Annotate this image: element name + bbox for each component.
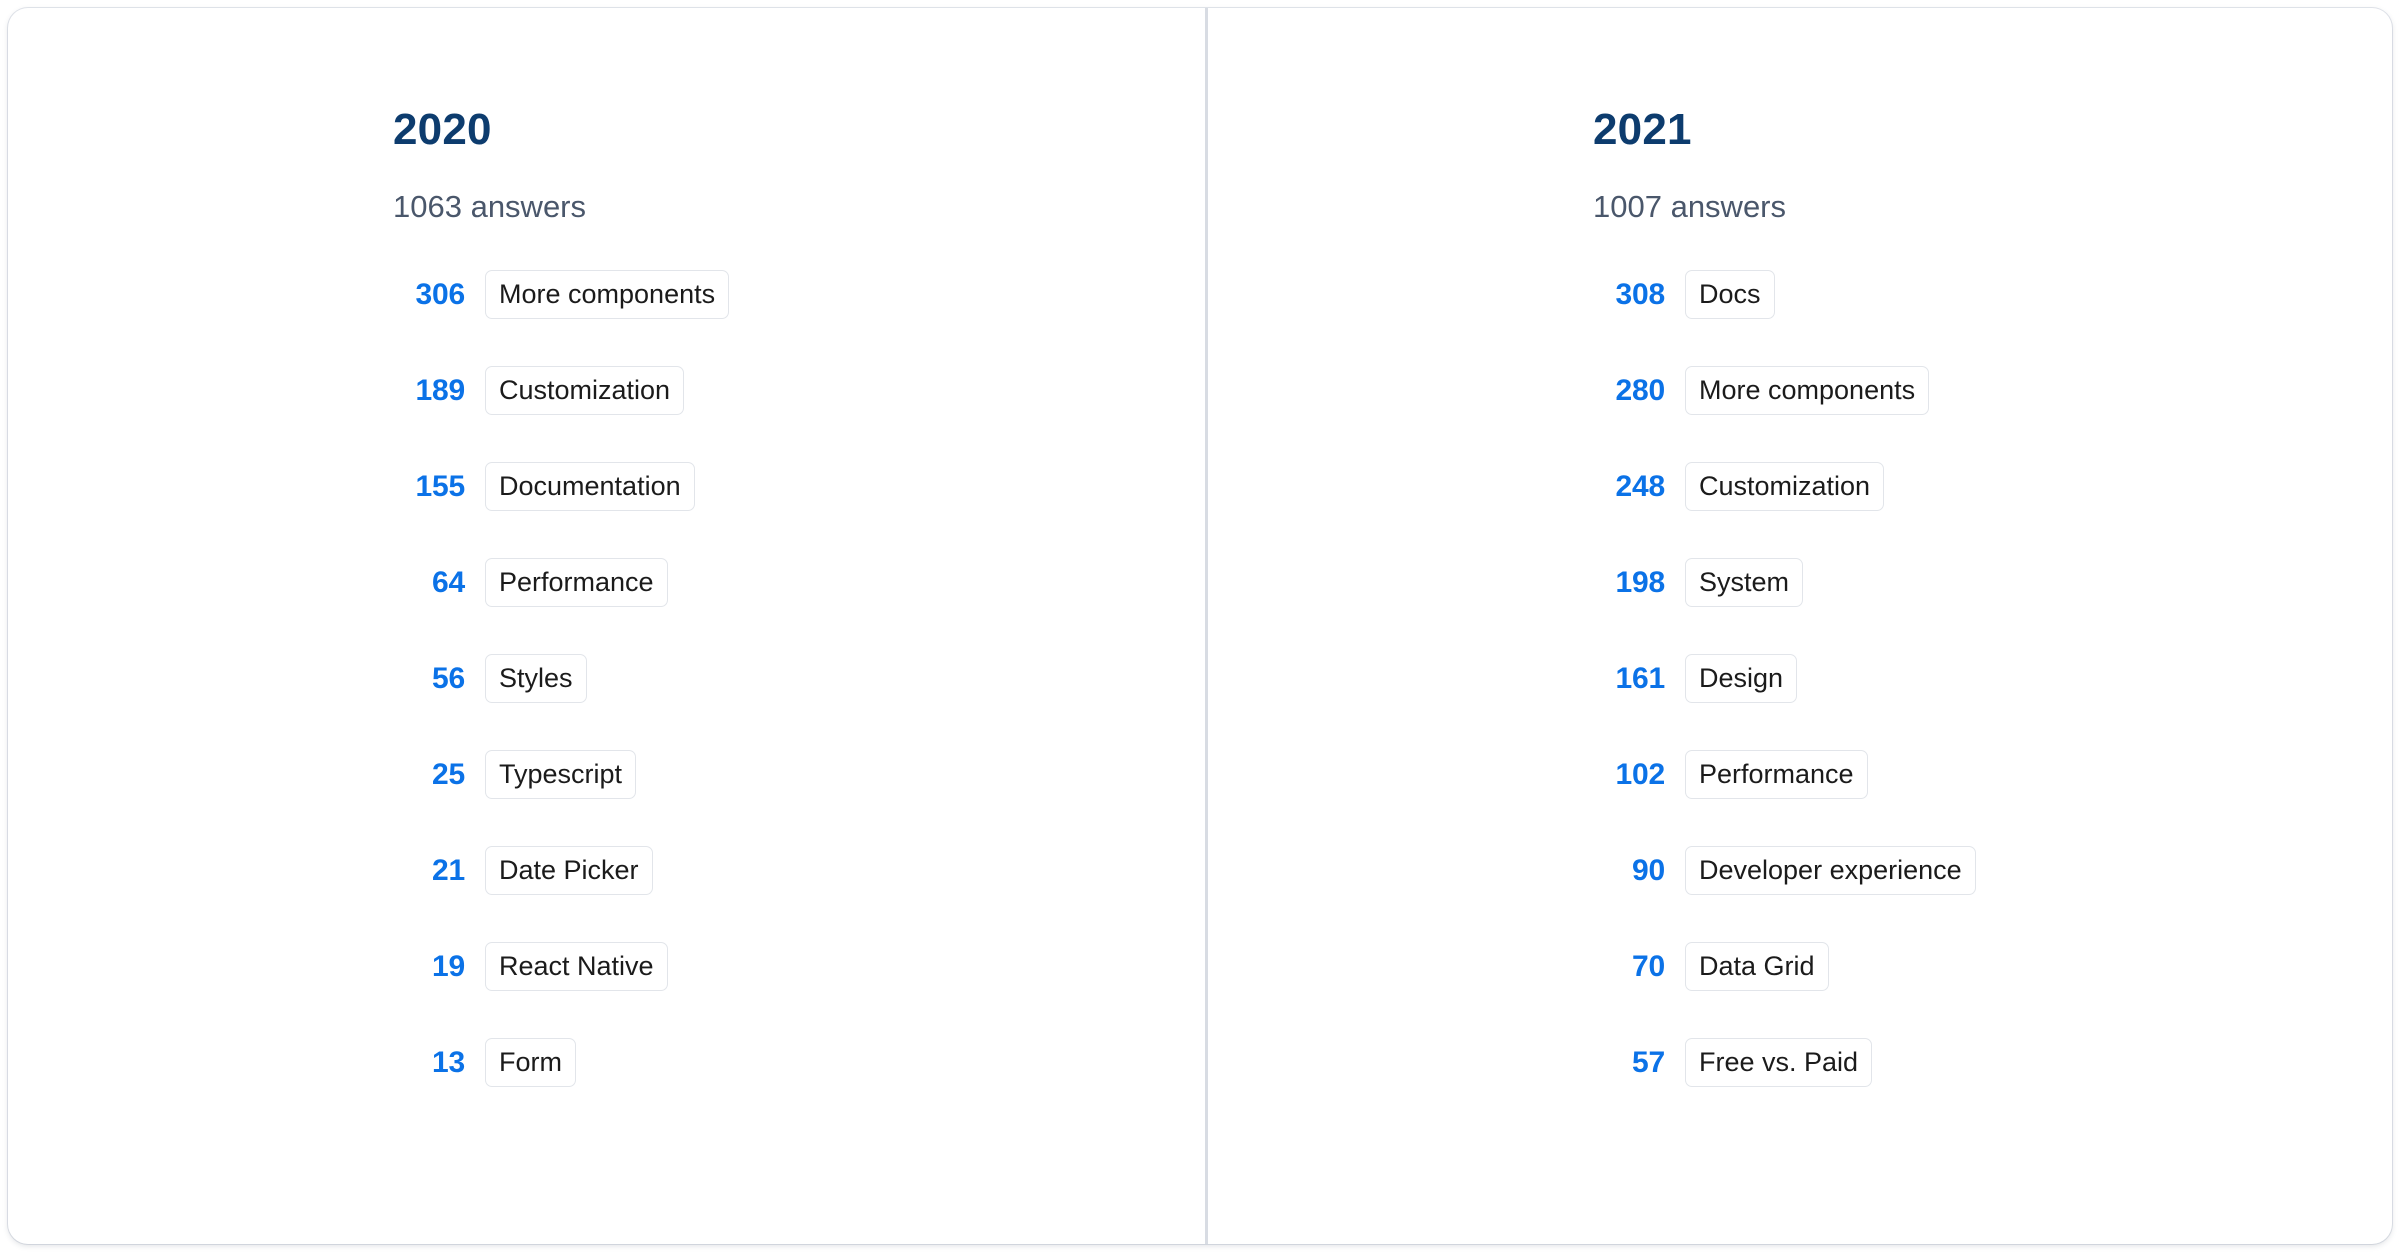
item-count: 57: [1593, 1048, 1665, 1078]
item-label-chip[interactable]: Developer experience: [1685, 846, 1976, 895]
list-item[interactable]: 57 Free vs. Paid: [1593, 1038, 2389, 1087]
item-label-chip[interactable]: More components: [485, 270, 729, 319]
item-label-chip[interactable]: Customization: [1685, 462, 1884, 511]
item-label-chip[interactable]: React Native: [485, 942, 668, 991]
item-count: 308: [1593, 280, 1665, 310]
results-column-2020: 2020 1063 answers 306 More components 18…: [8, 8, 1208, 1244]
list-item[interactable]: 64 Performance: [393, 558, 1205, 607]
list-item[interactable]: 19 React Native: [393, 942, 1205, 991]
item-count: 198: [1593, 568, 1665, 598]
item-label-chip[interactable]: Performance: [485, 558, 668, 607]
item-label-chip[interactable]: Free vs. Paid: [1685, 1038, 1872, 1087]
item-count: 161: [1593, 664, 1665, 694]
item-count: 306: [393, 280, 465, 310]
list-item[interactable]: 306 More components: [393, 270, 1205, 319]
list-item[interactable]: 155 Documentation: [393, 462, 1205, 511]
item-label-chip[interactable]: More components: [1685, 366, 1929, 415]
item-count: 19: [393, 952, 465, 982]
item-count: 155: [393, 472, 465, 502]
item-label-chip[interactable]: Form: [485, 1038, 576, 1087]
results-list-2020: 306 More components 189 Customization 15…: [393, 270, 1205, 1087]
item-count: 280: [1593, 376, 1665, 406]
item-count: 248: [1593, 472, 1665, 502]
page-title-2020: 2020: [393, 108, 1205, 152]
list-item[interactable]: 308 Docs: [1593, 270, 2389, 319]
list-item[interactable]: 21 Date Picker: [393, 846, 1205, 895]
answers-count-2020: 1063 answers: [393, 191, 1205, 222]
results-column-2021: 2021 1007 answers 308 Docs 280 More comp…: [1208, 8, 2389, 1244]
results-card: 2020 1063 answers 306 More components 18…: [8, 8, 2392, 1244]
list-item[interactable]: 56 Styles: [393, 654, 1205, 703]
item-label-chip[interactable]: Documentation: [485, 462, 695, 511]
page-title-2021: 2021: [1593, 108, 2389, 152]
list-item[interactable]: 161 Design: [1593, 654, 2389, 703]
item-label-chip[interactable]: Date Picker: [485, 846, 653, 895]
item-label-chip[interactable]: Customization: [485, 366, 684, 415]
list-item[interactable]: 25 Typescript: [393, 750, 1205, 799]
item-label-chip[interactable]: Data Grid: [1685, 942, 1829, 991]
column-content-2021: 2021 1007 answers 308 Docs 280 More comp…: [1208, 8, 2389, 1087]
item-count: 56: [393, 664, 465, 694]
list-item[interactable]: 102 Performance: [1593, 750, 2389, 799]
item-count: 70: [1593, 952, 1665, 982]
item-count: 21: [393, 856, 465, 886]
item-count: 64: [393, 568, 465, 598]
item-count: 102: [1593, 760, 1665, 790]
item-label-chip[interactable]: Performance: [1685, 750, 1868, 799]
item-count: 189: [393, 376, 465, 406]
item-count: 90: [1593, 856, 1665, 886]
list-item[interactable]: 90 Developer experience: [1593, 846, 2389, 895]
list-item[interactable]: 70 Data Grid: [1593, 942, 2389, 991]
item-label-chip[interactable]: Design: [1685, 654, 1797, 703]
list-item[interactable]: 13 Form: [393, 1038, 1205, 1087]
answers-count-2021: 1007 answers: [1593, 191, 2389, 222]
column-content-2020: 2020 1063 answers 306 More components 18…: [8, 8, 1205, 1087]
list-item[interactable]: 248 Customization: [1593, 462, 2389, 511]
list-item[interactable]: 280 More components: [1593, 366, 2389, 415]
item-label-chip[interactable]: Styles: [485, 654, 587, 703]
item-label-chip[interactable]: Typescript: [485, 750, 636, 799]
results-list-2021: 308 Docs 280 More components 248 Customi…: [1593, 270, 2389, 1087]
item-count: 13: [393, 1048, 465, 1078]
item-label-chip[interactable]: System: [1685, 558, 1803, 607]
item-label-chip[interactable]: Docs: [1685, 270, 1775, 319]
list-item[interactable]: 198 System: [1593, 558, 2389, 607]
list-item[interactable]: 189 Customization: [393, 366, 1205, 415]
item-count: 25: [393, 760, 465, 790]
